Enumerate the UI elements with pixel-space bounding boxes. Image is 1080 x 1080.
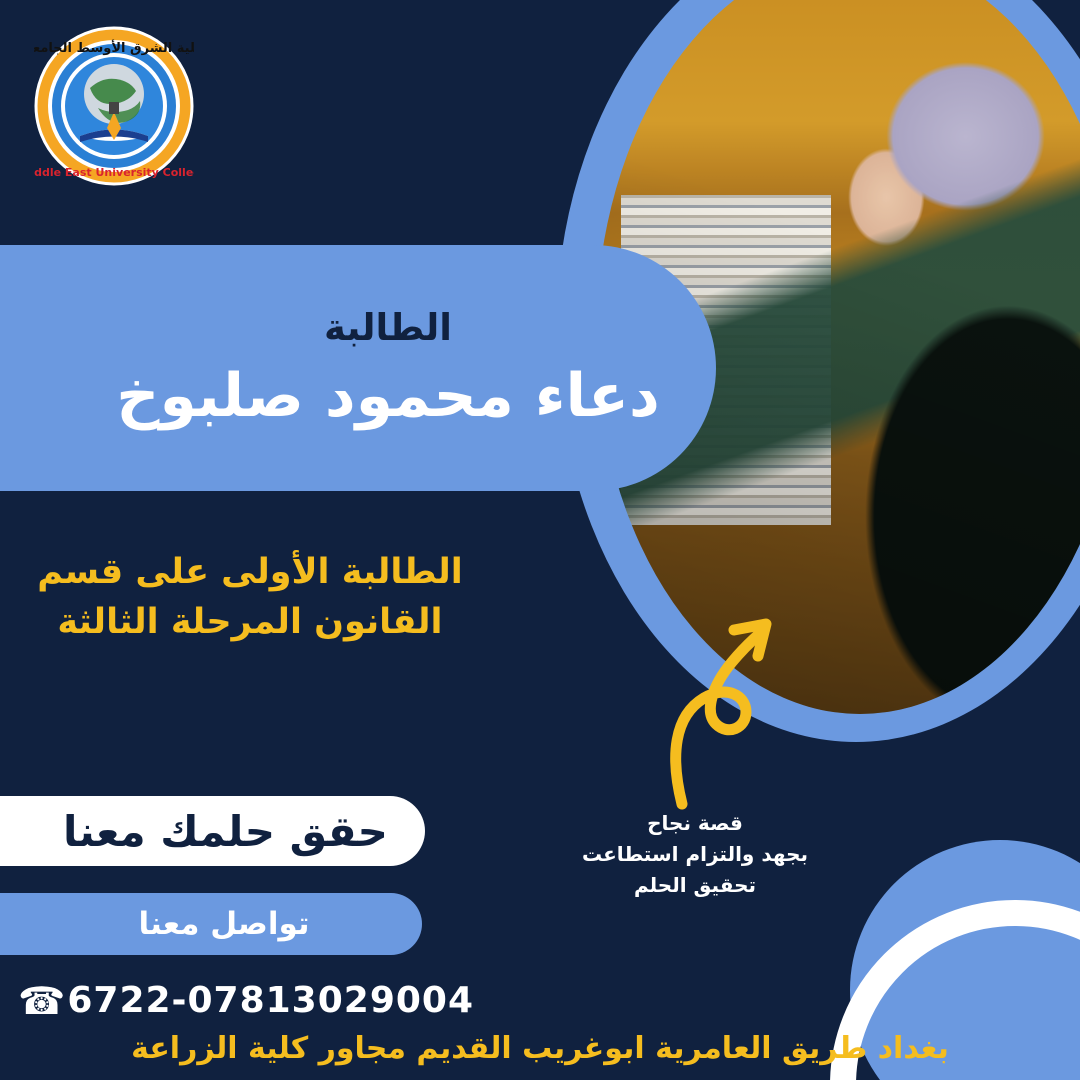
success-story-line-2: بجهد والتزام استطاعت [545, 839, 845, 870]
address-text: بغداد طريق العامرية ابوغريب القديم مجاور… [0, 1031, 1080, 1066]
student-rank-line-2: القانون المرحلة الثالثة [0, 598, 500, 648]
contact-us-label: تواصل معنا [138, 906, 309, 942]
telephone-icon: ☎ [18, 982, 65, 1020]
poster-canvas: كلية الشرق الأوسط الجامعة Middle East Un… [0, 0, 1080, 1080]
student-role-label: الطالبة [324, 306, 452, 349]
success-story-line-3: تحقيق الحلم [545, 870, 845, 901]
success-story-line-1: قصة نجاح [545, 808, 845, 839]
phone-number: 6722-07813029004 [67, 980, 474, 1021]
logo-arabic-text: كلية الشرق الأوسط الجامعة [34, 39, 194, 56]
achieve-your-dream-label: حقق حلمك معنا [63, 807, 388, 856]
achieve-your-dream-button[interactable]: حقق حلمك معنا [0, 796, 425, 866]
contact-us-button[interactable]: تواصل معنا [0, 893, 422, 955]
logo-english-text: Middle East University College [34, 166, 194, 179]
phone-contact-line[interactable]: ☎ 6722-07813029004 [18, 980, 474, 1021]
student-rank-line-1: الطالبة الأولى على قسم [0, 548, 500, 598]
curly-arrow-icon [660, 596, 830, 816]
success-story-caption: قصة نجاح بجهد والتزام استطاعت تحقيق الحل… [545, 808, 845, 901]
student-rank-text: الطالبة الأولى على قسم القانون المرحلة ا… [0, 548, 500, 647]
college-logo: كلية الشرق الأوسط الجامعة Middle East Un… [34, 26, 194, 186]
student-name-banner: الطالبة دعاء محمود صلبوخ [0, 245, 716, 491]
student-name: دعاء محمود صلبوخ [116, 361, 660, 431]
